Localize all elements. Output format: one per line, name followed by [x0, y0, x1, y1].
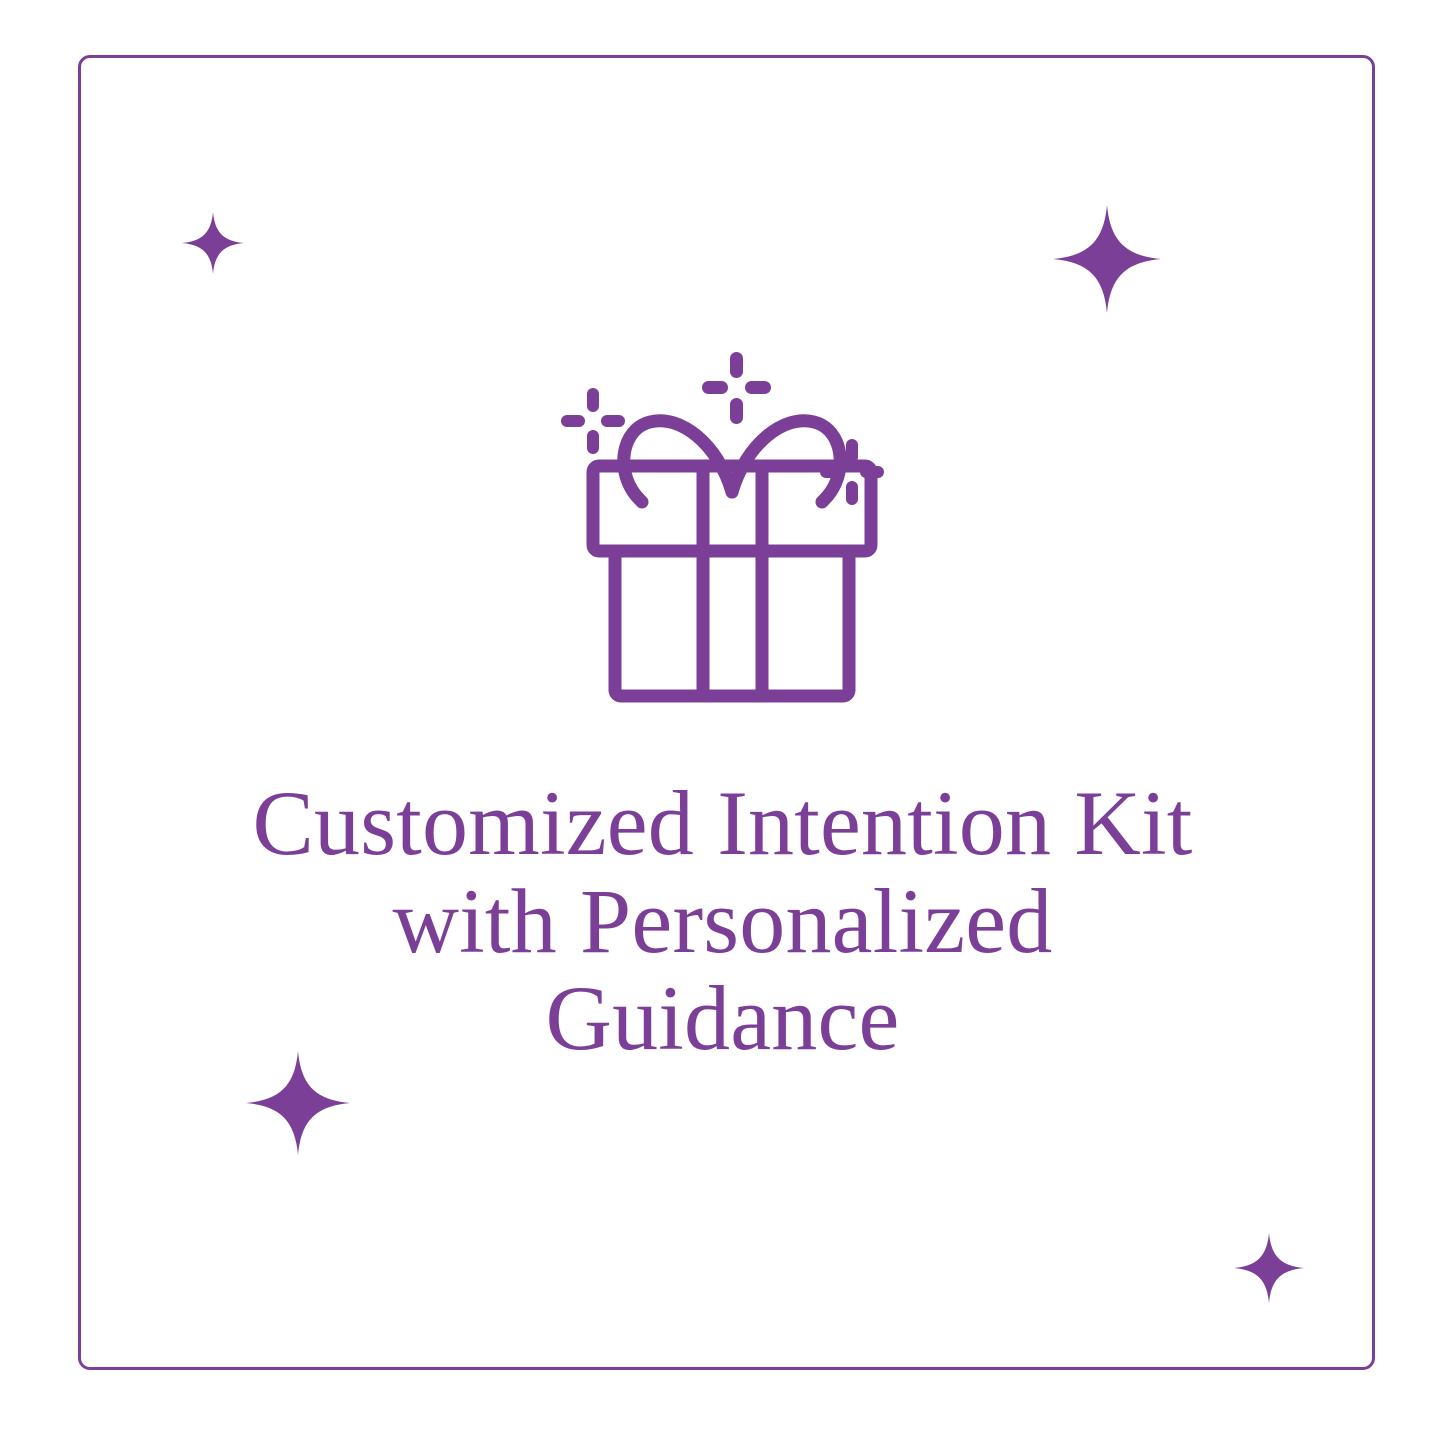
gift-sparkle-left [561, 388, 625, 454]
headline-line-3: Guidance [120, 970, 1325, 1068]
gift-box-icon [540, 340, 920, 730]
page-title: Customized Intention Kit with Personaliz… [120, 775, 1325, 1068]
sparkle-icon-bottom-right [1234, 1233, 1304, 1303]
card-canvas: Customized Intention Kit with Personaliz… [0, 0, 1445, 1445]
sparkle-icon-top-right [1053, 203, 1161, 315]
headline-line-2: with Personalized [120, 873, 1325, 971]
sparkle-icon-top-left [182, 212, 244, 274]
headline-line-1: Customized Intention Kit [120, 775, 1325, 873]
gift-sparkle-top [702, 352, 771, 424]
